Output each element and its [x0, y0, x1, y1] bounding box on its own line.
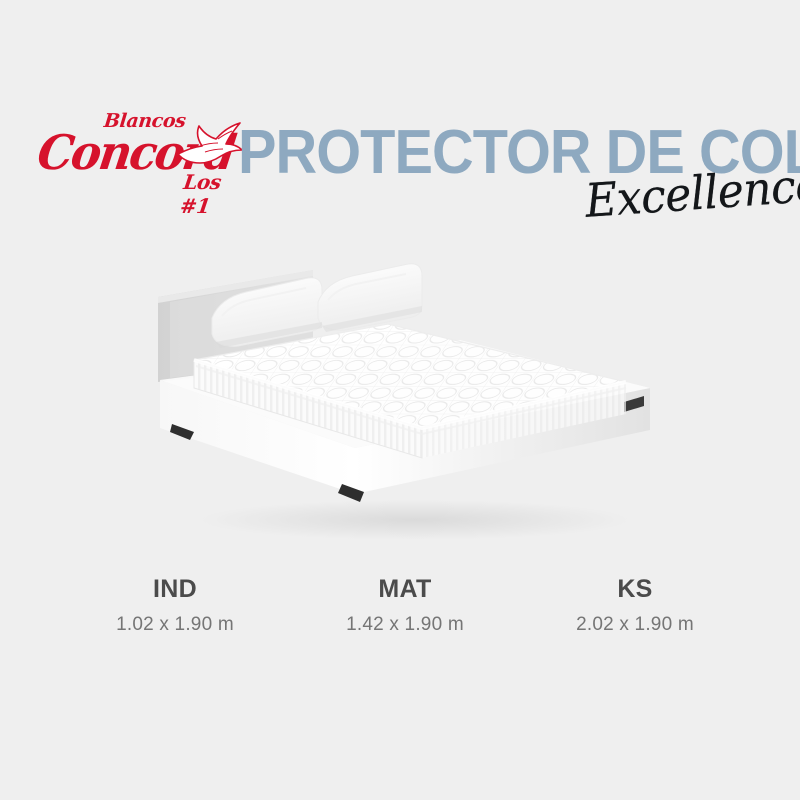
product-image: [150, 262, 670, 542]
size-option-ind: IND 1.02 x 1.90 m: [60, 575, 290, 636]
size-options: IND 1.02 x 1.90 m MAT 1.42 x 1.90 m KS 2…: [60, 575, 750, 636]
product-banner: Blancos Concord ® Los #1 PROTECTOR DE CO…: [0, 0, 800, 800]
size-dimensions: 2.02 x 1.90 m: [520, 614, 750, 636]
size-dimensions: 1.42 x 1.90 m: [290, 614, 520, 636]
bed-illustration: [150, 262, 670, 542]
logo-tagline: Los #1: [179, 170, 241, 218]
size-code: MAT: [290, 575, 520, 604]
size-dimensions: 1.02 x 1.90 m: [60, 614, 290, 636]
brand-logo: Blancos Concord ® Los #1: [32, 108, 237, 203]
size-code: IND: [60, 575, 290, 604]
dove-icon: [172, 114, 244, 176]
size-option-ks: KS 2.02 x 1.90 m: [520, 575, 750, 636]
size-option-mat: MAT 1.42 x 1.90 m: [290, 575, 520, 636]
size-code: KS: [520, 575, 750, 604]
